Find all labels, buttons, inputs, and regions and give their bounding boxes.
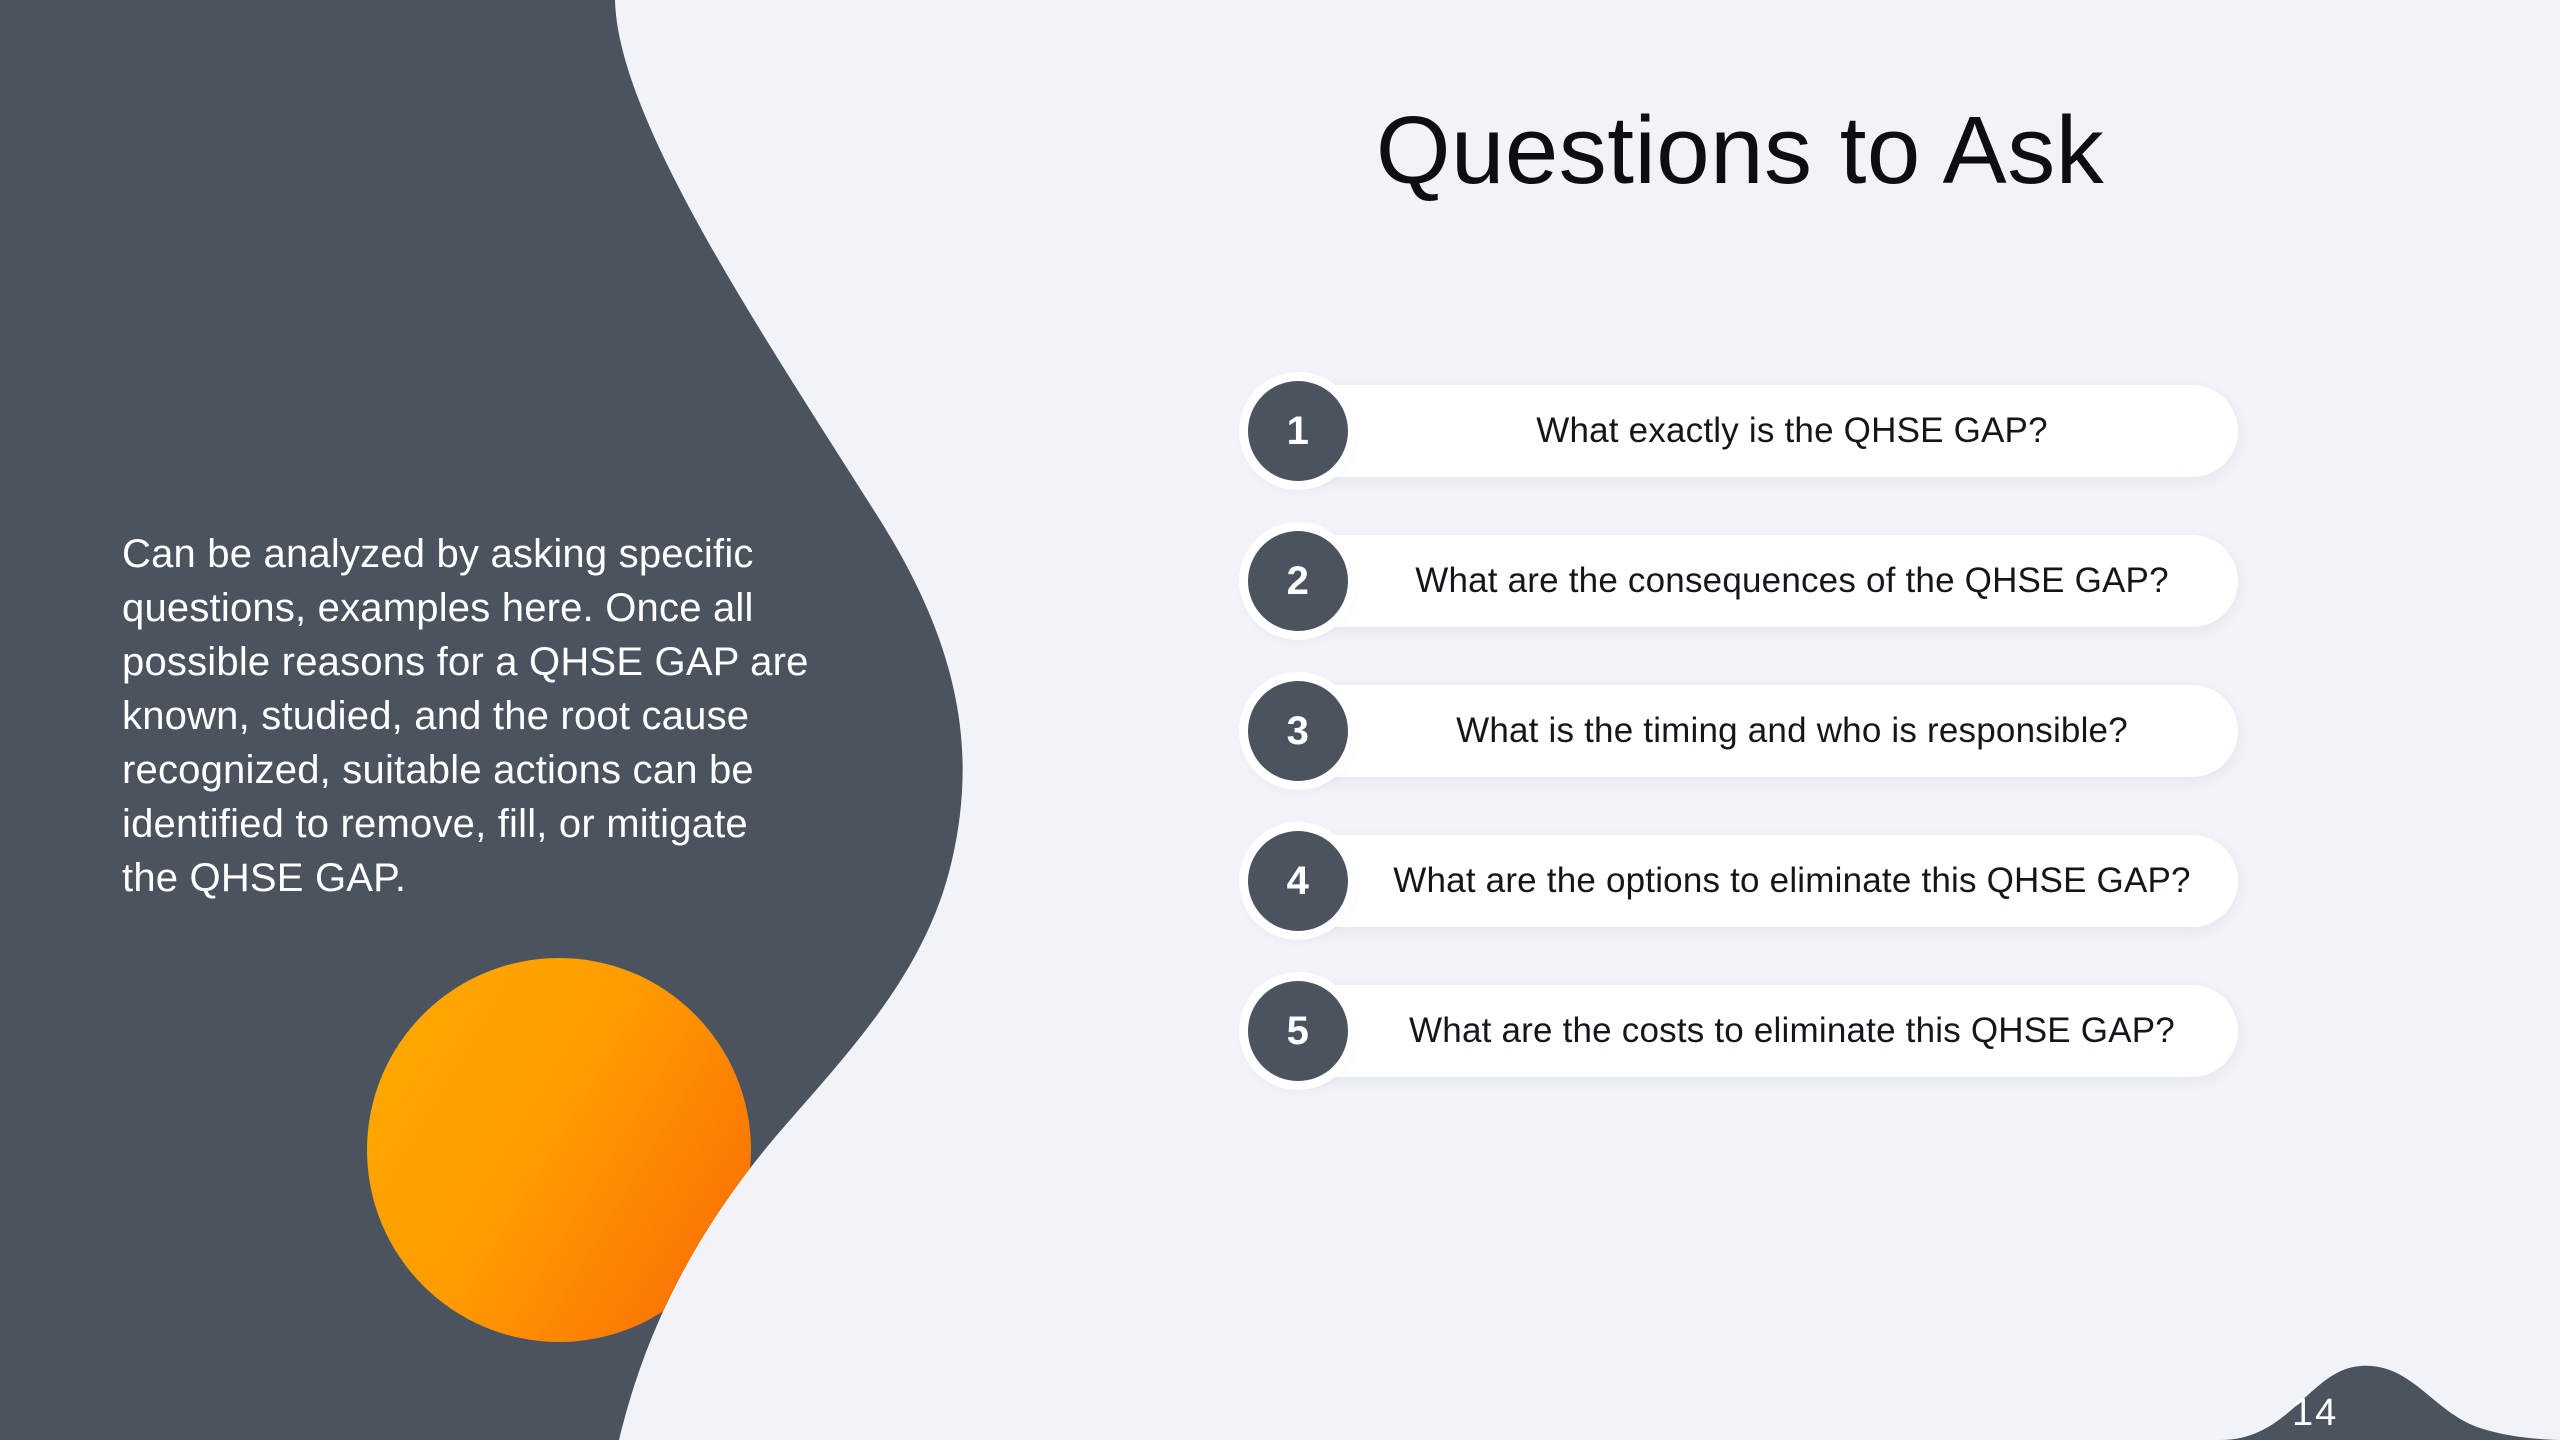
question-row[interactable]: What is the timing and who is responsibl… xyxy=(1248,685,2248,777)
question-number-badge: 2 xyxy=(1248,531,1348,631)
question-list: What exactly is the QHSE GAP? 1 What are… xyxy=(1248,385,2248,1077)
page-number: 14 xyxy=(2292,1392,2338,1435)
question-number-badge: 1 xyxy=(1248,381,1348,481)
question-text: What are the costs to eliminate this QHS… xyxy=(1368,985,2216,1077)
question-text: What are the consequences of the QHSE GA… xyxy=(1368,535,2216,627)
question-row[interactable]: What are the options to eliminate this Q… xyxy=(1248,835,2248,927)
page-title: Questions to Ask xyxy=(1240,96,2240,206)
presentation-slide: Can be analyzed by asking specific quest… xyxy=(0,0,2560,1440)
question-row[interactable]: What are the costs to eliminate this QHS… xyxy=(1248,985,2248,1077)
question-row[interactable]: What are the consequences of the QHSE GA… xyxy=(1248,535,2248,627)
body-paragraph: Can be analyzed by asking specific quest… xyxy=(122,527,812,905)
question-row[interactable]: What exactly is the QHSE GAP? 1 xyxy=(1248,385,2248,477)
question-number-badge: 4 xyxy=(1248,831,1348,931)
orange-accent-circle xyxy=(367,958,751,1342)
question-text: What exactly is the QHSE GAP? xyxy=(1368,385,2216,477)
question-number-badge: 5 xyxy=(1248,981,1348,1081)
question-text: What are the options to eliminate this Q… xyxy=(1368,835,2216,927)
question-text: What is the timing and who is responsibl… xyxy=(1368,685,2216,777)
question-number-badge: 3 xyxy=(1248,681,1348,781)
bottom-right-hill xyxy=(2220,1366,2560,1440)
